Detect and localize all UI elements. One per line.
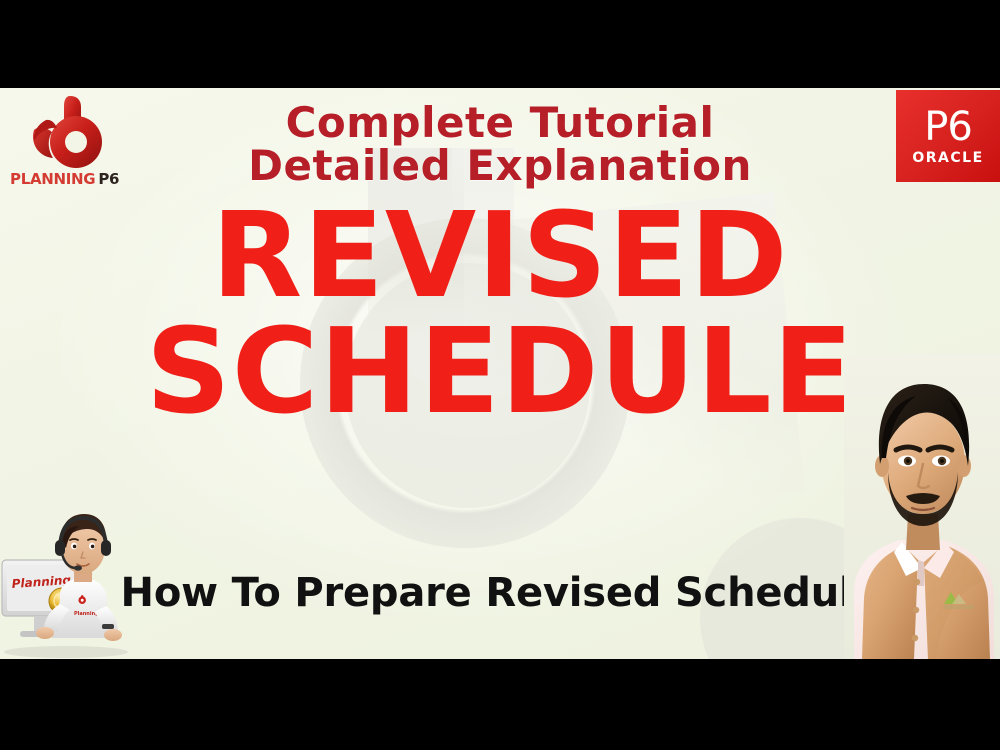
brand-wordmark-p6: P6: [98, 170, 119, 188]
oracle-p6-badge: P6 ORACLE: [896, 90, 1000, 182]
brand-logo: PLANNINGP6: [8, 94, 143, 199]
p6-badge-subtitle: ORACLE: [912, 151, 983, 165]
p6-badge-title: P6: [924, 107, 972, 147]
thumbnail-canvas: PLANNINGP6 P6 ORACLE Complete Tutorial D…: [0, 88, 1000, 659]
brand-wordmark-planning: PLANNING: [10, 170, 95, 188]
letterbox-bottom-bar: [0, 659, 1000, 750]
brand-wordmark: PLANNINGP6: [10, 170, 142, 188]
support-agent-illustration: Planning-P6 Planning: [0, 496, 134, 659]
planning-p6-mark-icon: [26, 94, 112, 170]
presenter-photo: [844, 354, 1000, 659]
video-thumbnail: PLANNINGP6 P6 ORACLE Complete Tutorial D…: [0, 0, 1000, 750]
letterbox-top-bar: [0, 0, 1000, 88]
